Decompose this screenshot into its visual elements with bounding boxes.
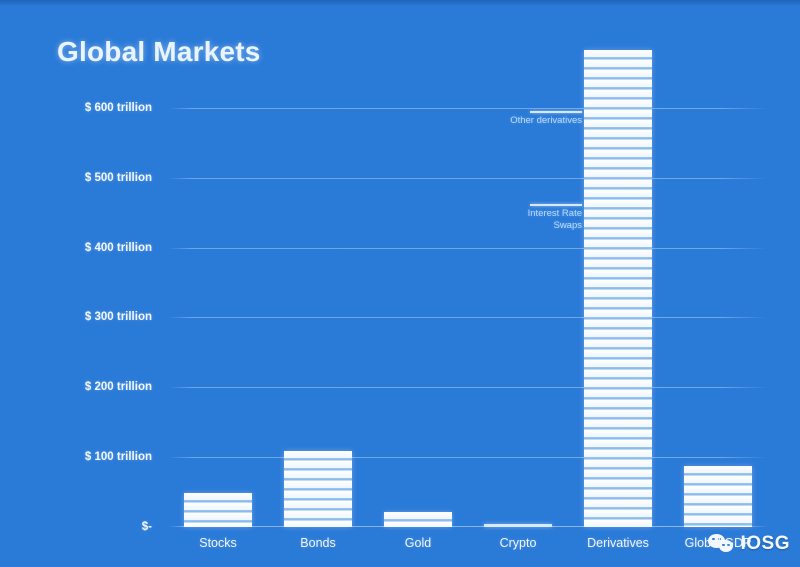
x-axis-tick-label: Bonds xyxy=(300,536,335,550)
gridline xyxy=(168,317,768,318)
y-axis-tick-label: $ 400 trillion xyxy=(85,242,152,254)
gridline xyxy=(168,108,768,109)
annotation-text: Swaps xyxy=(528,220,582,232)
gridline xyxy=(168,387,768,388)
bar-stocks xyxy=(184,493,252,527)
gridline xyxy=(168,248,768,249)
annotation-text: Other derivatives xyxy=(510,115,582,127)
annotation-leader-line xyxy=(530,111,582,113)
bar-bonds xyxy=(284,451,352,527)
y-axis-tick-label: $ 100 trillion xyxy=(85,451,152,463)
annotation-text: Interest Rate xyxy=(528,208,582,220)
annotation-leader-line xyxy=(530,204,582,206)
x-axis-tick-label: Gold xyxy=(405,536,431,550)
gridline xyxy=(168,178,768,179)
x-axis-tick-label: Global GDP xyxy=(685,536,752,550)
axis-baseline xyxy=(168,526,768,527)
y-axis-tick-label: $ 300 trillion xyxy=(85,311,152,323)
bar-gold xyxy=(384,512,452,527)
y-axis-tick-label: $ 600 trillion xyxy=(85,102,152,114)
annotation-interest-rate-swaps: Interest RateSwaps xyxy=(528,208,582,232)
x-axis-tick-label: Derivatives xyxy=(587,536,649,550)
chart-canvas: Global Markets $ 600 trillion$ 500 trill… xyxy=(0,0,800,567)
x-axis-tick-label: Stocks xyxy=(199,536,237,550)
annotation-other-derivatives: Other derivatives xyxy=(510,115,582,127)
bar-global-gdp xyxy=(684,466,752,527)
bar-crypto xyxy=(484,524,552,528)
y-axis: $ 600 trillion$ 500 trillion$ 400 trilli… xyxy=(0,80,152,527)
bar-derivatives xyxy=(584,50,652,527)
plot-area: Other derivativesInterest RateSwaps xyxy=(168,80,768,527)
y-axis-tick-label: $ 200 trillion xyxy=(85,381,152,393)
gridline xyxy=(168,457,768,458)
chart-title: Global Markets xyxy=(57,36,261,68)
x-axis-tick-label: Crypto xyxy=(500,536,537,550)
y-axis-tick-label: $ 500 trillion xyxy=(85,172,152,184)
y-axis-tick-label: $- xyxy=(142,521,152,533)
